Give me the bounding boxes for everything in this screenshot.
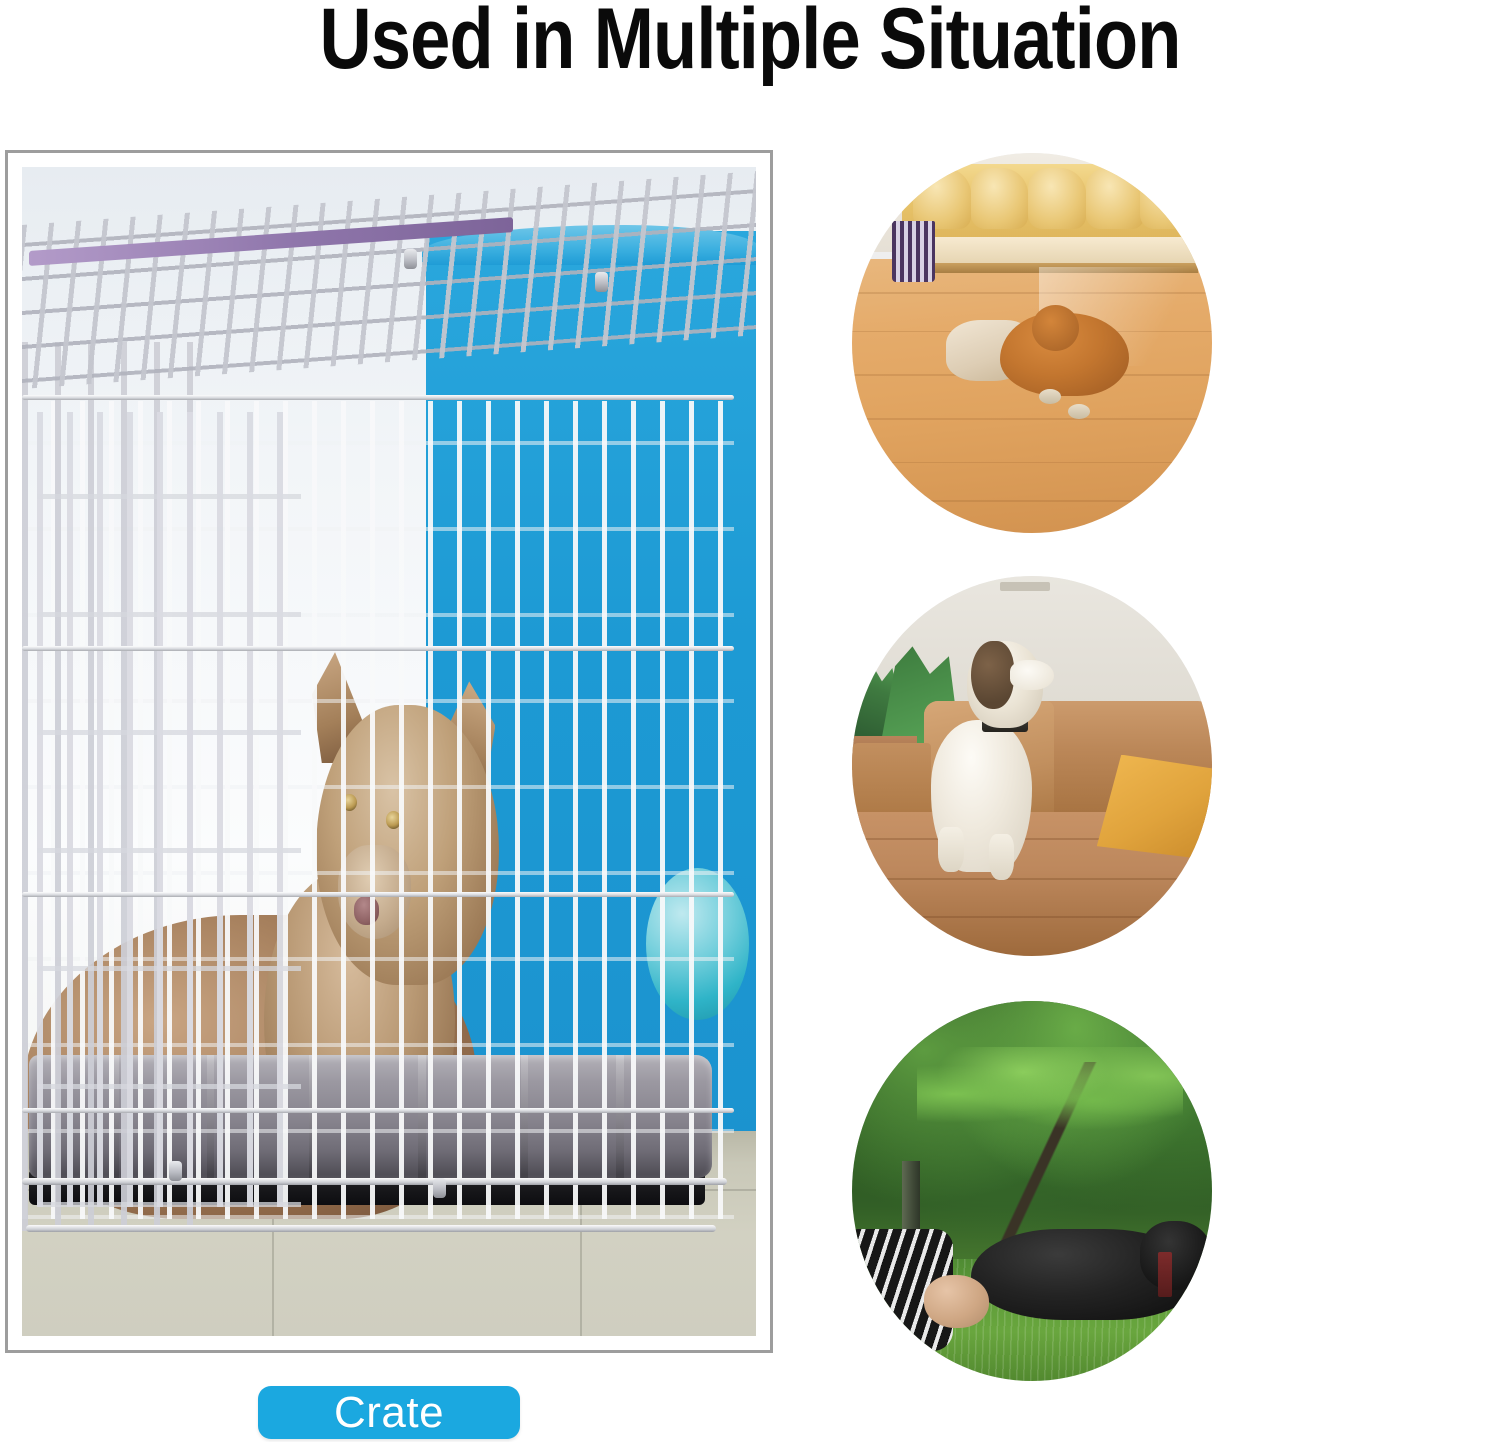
badge-crate[interactable]: Crate <box>258 1386 520 1439</box>
crate-clip <box>595 272 608 292</box>
situation-floor: Floor <box>840 145 1500 545</box>
situation-outdoor: Outdoor <box>840 993 1500 1393</box>
page-title: Used in Multiple Situation <box>120 0 1380 84</box>
crate-rail <box>22 646 734 651</box>
infographic-canvas: Used in Multiple Situation <box>0 0 1500 1442</box>
crate-clip <box>169 1161 182 1181</box>
crate-rail <box>22 395 734 400</box>
sofa-cushion <box>913 168 971 229</box>
dog-front-leg <box>938 827 963 873</box>
sofa-cushion <box>971 168 1029 229</box>
floor-plank-seam <box>852 418 1212 420</box>
sofa-cushion <box>1028 168 1086 229</box>
striped-waste-bin <box>892 221 935 282</box>
leather-crease <box>852 916 1212 918</box>
sofa-circle-photo <box>852 576 1212 956</box>
crate-rail <box>22 892 734 897</box>
outdoor-circle-photo <box>852 1001 1212 1381</box>
crate-clip <box>404 249 417 269</box>
dog-front-leg <box>989 834 1014 880</box>
golden-retriever-head <box>1032 305 1079 351</box>
person-hand <box>924 1275 989 1328</box>
floor-plank-seam <box>852 462 1212 464</box>
black-dog-head <box>1140 1221 1212 1289</box>
dog-snout <box>1010 660 1053 690</box>
dog-paw <box>1039 389 1061 404</box>
dog-collar <box>1158 1252 1172 1298</box>
dog-paw <box>1068 404 1090 419</box>
leather-crease <box>852 878 1212 880</box>
sofa-cushion <box>1140 168 1198 229</box>
crate-clip <box>433 1178 446 1198</box>
wall-vent <box>1000 582 1050 591</box>
crate-rail <box>22 1108 734 1113</box>
foreground-leaves <box>917 1047 1183 1146</box>
crate-base-rail <box>26 1225 716 1232</box>
floor-circle-photo <box>852 153 1212 533</box>
crate-bottom-rail <box>22 1178 727 1185</box>
sofa-cushion <box>1086 168 1144 229</box>
floor-plank-seam <box>852 500 1212 502</box>
crate-door-panel <box>37 412 301 1207</box>
crate-photo-frame <box>5 150 773 1353</box>
situation-sofa: Sofa <box>840 568 1500 968</box>
crate-photo <box>22 167 756 1336</box>
dog-curly-top-hair <box>971 641 1014 709</box>
